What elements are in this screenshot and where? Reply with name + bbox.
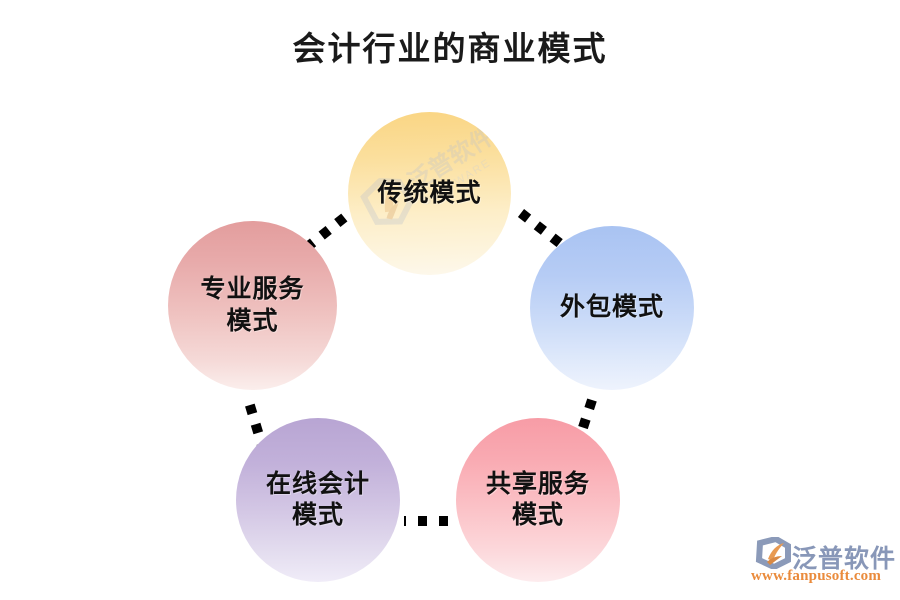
- connector-layer: [0, 0, 900, 600]
- node-professional-services[interactable]: 专业服务 模式: [168, 221, 337, 390]
- diagram-canvas: 会计行业的商业模式 泛普软件 SOFTWARE: [0, 0, 900, 600]
- brand-logo-mark-icon: [750, 537, 792, 569]
- node-outsourcing-label: 外包模式: [554, 292, 670, 324]
- node-traditional-label: 传统模式: [371, 178, 487, 210]
- node-online-accounting[interactable]: 在线会计 模式: [236, 418, 400, 582]
- node-professional-services-label: 专业服务 模式: [194, 274, 310, 337]
- brand-logo-url: www.fanpusoft.com: [751, 568, 881, 585]
- node-traditional[interactable]: 泛普软件 SOFTWARE 传统模式: [348, 112, 511, 275]
- node-online-accounting-label: 在线会计 模式: [260, 469, 376, 532]
- node-outsourcing[interactable]: 外包模式: [530, 226, 694, 390]
- node-shared-services-label: 共享服务 模式: [480, 469, 596, 532]
- node-shared-services[interactable]: 共享服务 模式: [456, 418, 620, 582]
- cycle-diagram: 泛普软件 SOFTWARE 传统模式 外包模式 共享服务 模式 在线会计 模式 …: [0, 0, 900, 600]
- brand-logo: 泛普软件 www.fanpusoft.com: [748, 536, 888, 590]
